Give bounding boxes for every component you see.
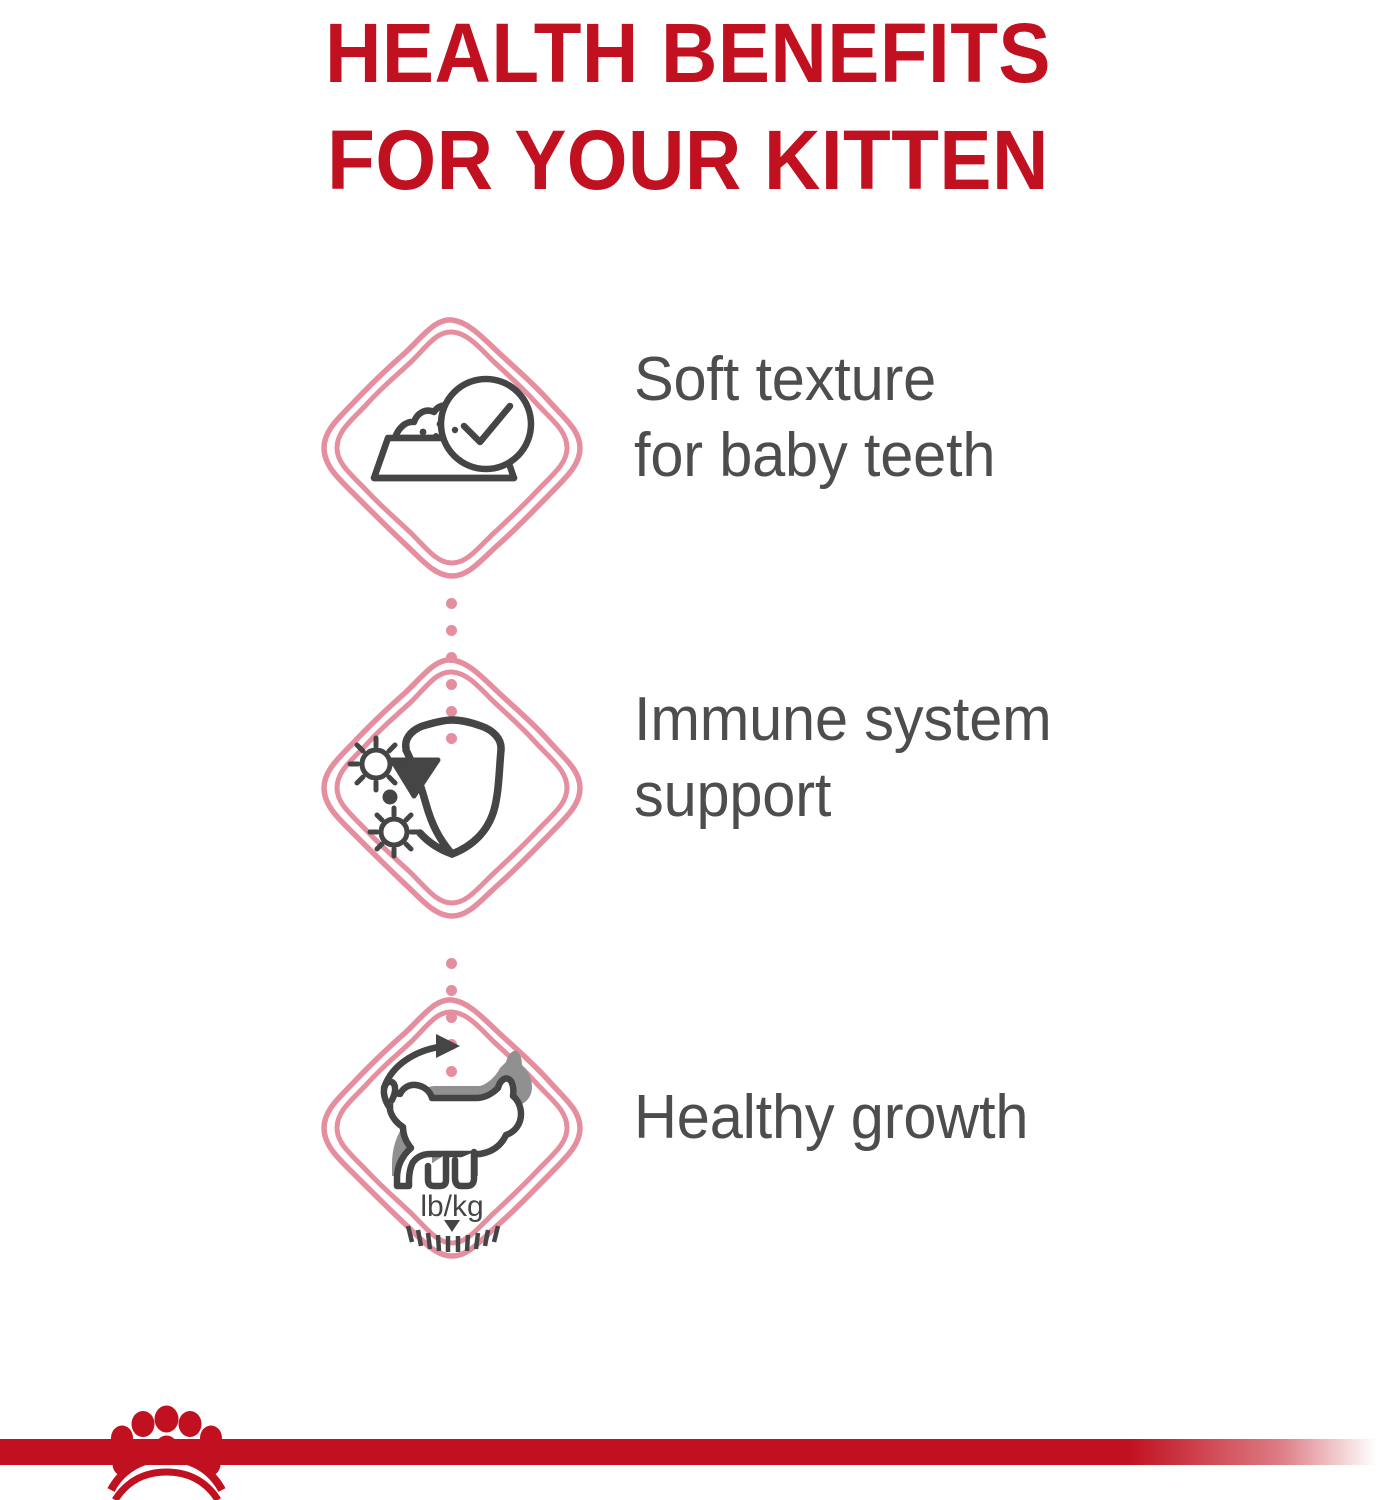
page-title: HEALTH BENEFITS FOR YOUR KITTEN	[48, 0, 1328, 214]
benefit-label-2-line-2: support	[634, 758, 1306, 834]
badge-frame-inner	[337, 672, 567, 903]
benefit-item-soft-texture: Soft texture for baby teeth	[0, 300, 1376, 640]
growth-arrow-head	[436, 1034, 460, 1058]
benefit-label-3-line-1: Healthy growth	[634, 1080, 1306, 1156]
cat-growth-scale-icon: lb/kg	[384, 1034, 532, 1252]
scale-unit-label: lb/kg	[420, 1190, 483, 1223]
benefit-label-1: Soft texture for baby teeth	[634, 342, 1306, 494]
benefit-label-1-line-1: Soft texture	[634, 342, 1306, 418]
benefit-item-immune-system: Immune system support	[0, 640, 1376, 980]
badge-frame-outer	[324, 660, 580, 916]
benefits-list: Soft texture for baby teeth	[0, 300, 1376, 1320]
royal-canin-crown-logo	[99, 1404, 234, 1500]
benefit-label-1-line-2: for baby teeth	[634, 418, 1306, 494]
germ-dot	[383, 790, 398, 805]
scale-pointer	[444, 1220, 460, 1232]
page-title-line-1: HEALTH BENEFITS	[48, 0, 1328, 107]
benefit-label-3: Healthy growth	[634, 1080, 1306, 1156]
benefit-badge-1	[318, 314, 586, 582]
benefit-badge-2	[318, 654, 586, 922]
connector-dot	[446, 625, 457, 636]
benefit-item-healthy-growth: lb/kg	[0, 980, 1376, 1320]
benefit-label-2-line-1: Immune system	[634, 682, 1306, 758]
page-title-line-2: FOR YOUR KITTEN	[48, 107, 1328, 214]
benefit-label-2: Immune system support	[634, 682, 1306, 834]
benefit-badge-3: lb/kg	[318, 994, 586, 1262]
germ-icon-2	[370, 808, 418, 856]
connector-dot	[446, 958, 457, 969]
germ-icon-1	[350, 738, 402, 790]
connector-dot	[446, 598, 457, 609]
footer	[0, 1404, 1376, 1500]
